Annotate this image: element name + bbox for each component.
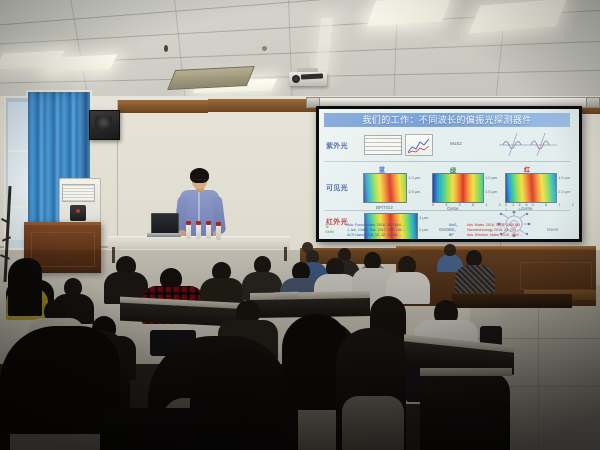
wall-wood-trim: [118, 100, 208, 113]
floor-tile-seam: [538, 300, 539, 450]
presenter-glasses-icon: [193, 179, 206, 183]
air-conditioner-grill: [62, 184, 95, 202]
rear-desk-top: [396, 246, 596, 250]
heatmap-scale-label: 2.0 µm: [558, 189, 570, 194]
floral-blouse-attendee: [455, 265, 495, 293]
water-bottle: [216, 225, 221, 240]
reference-item: ACS Nano 2018, 12, 12, 12135 ...: [347, 233, 401, 238]
air-conditioner-panel[interactable]: [70, 205, 86, 221]
reference-item: Adv. Electron. Mater. 2019, 1900 ...: [467, 233, 523, 238]
heatmap-scale-label: 2 µm: [419, 227, 428, 232]
uv-material-label: MoS2: [450, 141, 462, 146]
foreground-desk: [420, 372, 510, 450]
slide-title: 我们的工作：不同波长的偏振光探测器件: [324, 113, 570, 127]
reference-tag: Te: [325, 225, 329, 230]
reference-tag: TiS₃: [449, 228, 456, 233]
presenter-laptop-screen[interactable]: [151, 213, 179, 235]
ceiling-sensor-icon: [164, 45, 168, 52]
reference-item: Adv. Mater. 2018, 31(1), 1805185: [467, 223, 520, 228]
uv-plot-curve-icon: [406, 135, 432, 155]
heatmap-scale-label: 1.5 µm: [558, 175, 570, 180]
lattice-diagram-icon: [364, 135, 402, 155]
reference-item: Nanotechnology 2018, 29, 295 ...: [467, 228, 520, 233]
water-bottle: [186, 224, 191, 239]
table-leg: [284, 247, 287, 261]
heatmap-scale-label: 1.5 µm: [408, 189, 420, 194]
phone-on-desk[interactable]: [274, 292, 298, 299]
smoke-detector-icon: [262, 46, 267, 51]
heatmap-red: [505, 173, 557, 203]
heatmap-scale-label: 1.0 µm: [408, 175, 420, 180]
wall-wood-trim: [208, 99, 318, 112]
material-label-geas: GeAs: [547, 227, 558, 232]
slide-divider: [324, 161, 570, 162]
presenter-laptop-base: [147, 233, 181, 237]
attendee-head: [302, 242, 313, 253]
foreground-desk-top: [420, 368, 512, 376]
reference-tag: BP: [449, 233, 454, 238]
water-bottle: [206, 224, 211, 239]
bottle-cap: [196, 221, 201, 225]
desk-panel-detail: [520, 262, 592, 290]
slide-row-label-visible: 可见光: [326, 183, 348, 193]
water-bottle: [196, 224, 201, 239]
attendee-hair: [8, 258, 42, 316]
lecture-hall-photo: 我们的工作：不同波长的偏振光探测器件 紫外光 MoS2 可见光 蓝 绿 红: [0, 0, 600, 450]
bottle-cap: [186, 221, 191, 225]
heatmap-scale-label: 1.5 µm: [485, 189, 497, 194]
reference-tag: MoS₂: [449, 223, 458, 228]
screen-housing-end-cap: [586, 97, 600, 108]
speaker-cone-icon: [95, 116, 112, 130]
power-indicator-icon: [76, 209, 80, 213]
heatmap-scale-label: 1 µm: [419, 215, 428, 220]
heatmap-scale-label: 1.0 µm: [485, 175, 497, 180]
foreground-attendee-shirt: [342, 396, 404, 450]
reference-item: Adv. Funct. Mater. 2018, 28, 1804 ...: [347, 223, 405, 228]
desk-shadow: [452, 294, 572, 308]
heatmap-blue: [363, 173, 407, 203]
attendee-head: [444, 244, 456, 256]
foreground-desk: [100, 408, 240, 450]
bottle-cap: [206, 221, 211, 225]
slide-row-label-infrared: 红外光: [326, 217, 348, 227]
uv-transmission-plot: [405, 134, 433, 156]
bottle-cap: [216, 222, 221, 226]
projector-lens-icon: [292, 75, 300, 83]
heatmap-green: [432, 173, 484, 203]
podium-panel: [31, 232, 95, 267]
wave-axes-icon: [495, 131, 561, 157]
slide-row-label-uv: 紫外光: [326, 141, 348, 151]
projection-screen: 我们的工作：不同波长的偏振光探测器件 紫外光 MoS2 可见光 蓝 绿 红: [319, 109, 579, 239]
uv-polar-wave-diagram: [495, 131, 561, 157]
table-leg: [112, 247, 115, 263]
reference-tag: GeSe: [325, 230, 334, 235]
reference-item: J. Am. Chem. Soc. 2017, 139, 142 ...: [347, 228, 406, 233]
